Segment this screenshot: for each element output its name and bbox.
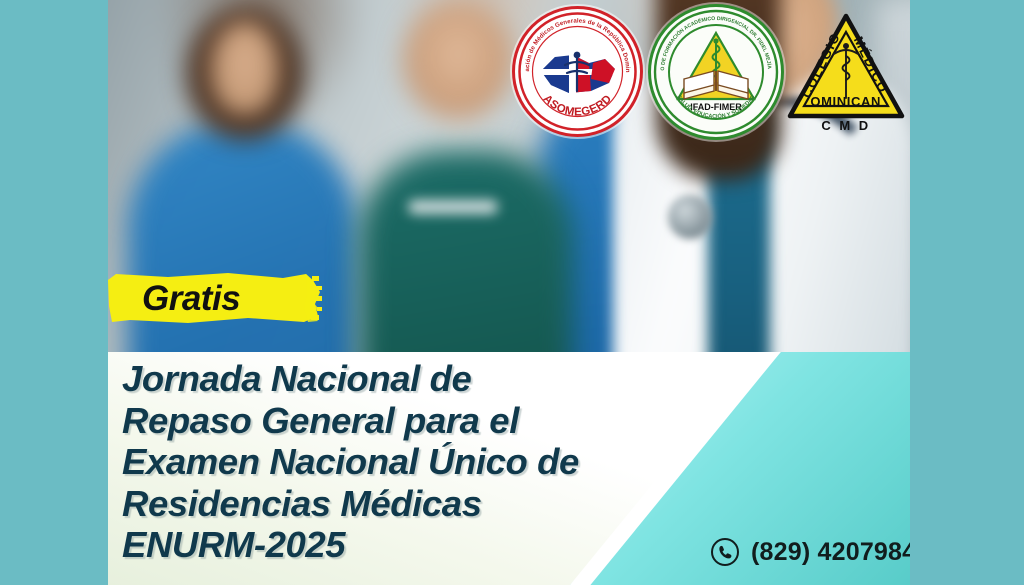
person-left-face — [212, 22, 278, 114]
title-line-3: Examen Nacional Único de — [122, 441, 782, 483]
title-line-4: Residencias Médicas — [122, 483, 782, 525]
person-middle-stethoscope — [408, 200, 498, 214]
logo-asomegerd: Asociación de Médicos Generales de la Re… — [512, 6, 643, 137]
title-line-5: ENURM-2025 — [122, 524, 782, 566]
contact-phone[interactable]: (829) 4207984 — [710, 537, 910, 567]
logo-ifad-fimer: IFAD-FIMER INSTITUTO DE FORMACIÓN ACADÉM… — [648, 4, 784, 140]
logo-colegio-medico-dominicano: COLEGIO MÉDICO DOMINICANO C M D — [782, 6, 910, 134]
phone-in-circle-icon — [710, 537, 740, 567]
cmd-acronym: C M D — [821, 118, 870, 133]
gratis-label: Gratis — [142, 278, 240, 320]
cmd-emblem-icon: COLEGIO MÉDICO DOMINICANO C M D — [782, 6, 910, 134]
phone-number: (829) 4207984 — [751, 538, 910, 567]
stethoscope-bell-icon — [668, 195, 712, 239]
person-middle-face — [403, 0, 513, 120]
title-line-2: Repaso General para el — [122, 400, 782, 442]
gratis-badge: Gratis — [108, 268, 343, 330]
info-panel: Jornada Nacional de Repaso General para … — [108, 352, 910, 585]
asomegerd-emblem-icon: Asociación de Médicos Generales de la Re… — [515, 9, 640, 134]
ifad-fimer-emblem-icon: IFAD-FIMER INSTITUTO DE FORMACIÓN ACADÉM… — [651, 7, 781, 137]
poster-flyer: Asociación de Médicos Generales de la Re… — [0, 0, 1024, 585]
event-title: Jornada Nacional de Repaso General para … — [122, 358, 782, 566]
title-line-1: Jornada Nacional de — [122, 358, 782, 400]
